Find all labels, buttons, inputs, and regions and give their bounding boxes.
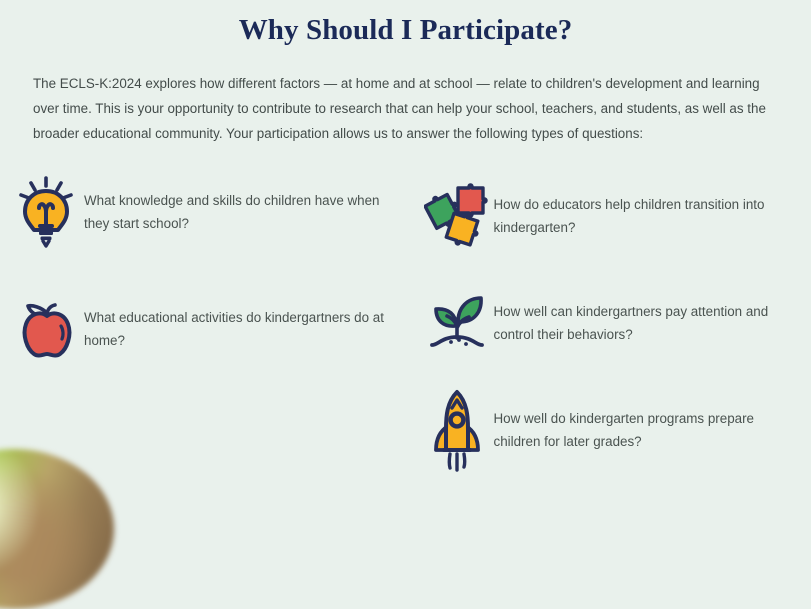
question-item-attention-behavior: How well can kindergartners pay attentio…	[424, 285, 794, 361]
question-grid: What knowledge and skills do children ha…	[0, 168, 811, 499]
page-title: Why Should I Participate?	[0, 0, 811, 47]
question-text: What knowledge and skills do children ha…	[80, 189, 404, 235]
apple-icon	[14, 291, 80, 367]
question-column-right: How do educators help children transitio…	[404, 168, 794, 499]
question-text: How do educators help children transitio…	[490, 193, 794, 239]
question-item-knowledge-skills: What knowledge and skills do children ha…	[14, 174, 404, 250]
lightbulb-icon	[14, 174, 80, 250]
rocket-icon	[424, 392, 490, 468]
participate-section: Why Should I Participate? The ECLS-K:202…	[0, 0, 811, 513]
question-text: What educational activities do kindergar…	[80, 306, 404, 352]
sprout-icon	[424, 285, 490, 361]
question-item-kindergarten-programs: How well do kindergarten programs prepar…	[424, 392, 794, 468]
question-item-educator-transition: How do educators help children transitio…	[424, 178, 794, 254]
question-text: How well do kindergarten programs prepar…	[490, 407, 794, 453]
puzzle-pieces-icon	[424, 178, 490, 254]
question-column-left: What knowledge and skills do children ha…	[14, 168, 404, 499]
question-text: How well can kindergartners pay attentio…	[490, 300, 794, 346]
question-item-educational-activities: What educational activities do kindergar…	[14, 291, 404, 367]
intro-paragraph: The ECLS-K:2024 explores how different f…	[0, 47, 811, 146]
